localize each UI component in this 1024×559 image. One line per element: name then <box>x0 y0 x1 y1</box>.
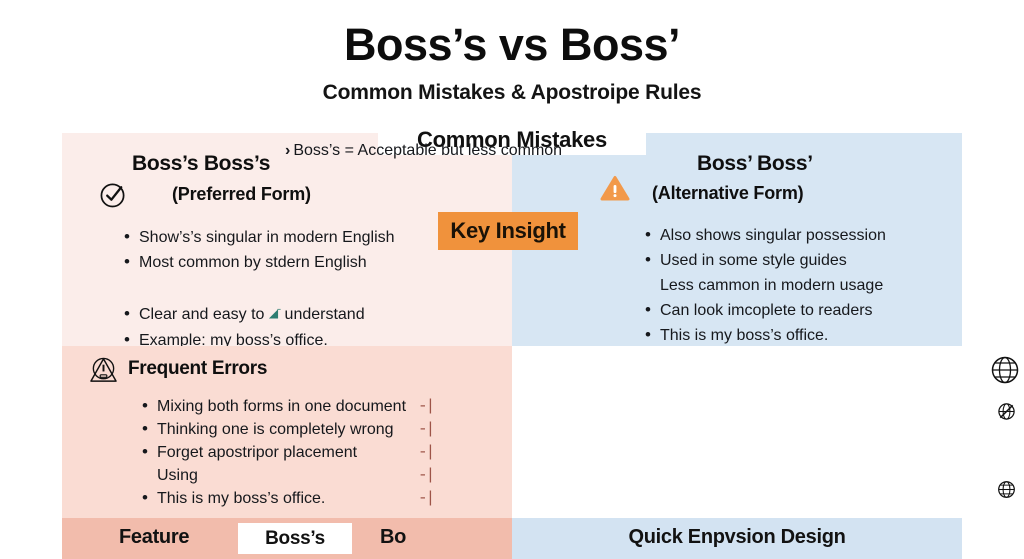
list-item: This is my boss’s office. <box>645 323 886 348</box>
list-item: Can look imcoplete to readers <box>645 298 886 323</box>
bottom-right-label: Quick Enpvsion Design <box>512 526 962 549</box>
error-mark: -| <box>418 487 433 510</box>
frequent-errors-section: Frequent Errors Mixing both forms in one… <box>62 346 512 518</box>
bottom-chip[interactable]: Boss’s <box>238 523 352 554</box>
list-item: Show’s’s singular in modern English <box>124 225 395 250</box>
artifact-glyph-icon: ◢ˉ <box>269 301 280 326</box>
page-title: Boss’s vs Boss’ <box>0 22 1024 67</box>
bottom-chip-label: Boss’s <box>265 528 325 550</box>
chevron-right-icon: › <box>285 142 290 159</box>
list-item: Most common by stdern English <box>124 250 395 275</box>
list-item: Thinking one is completely wrong <box>142 418 406 441</box>
bottom-bar-left: Feature Boss’s Bo <box>62 518 512 559</box>
frequent-errors-list: Mixing both forms in one document Thinki… <box>142 395 406 510</box>
warning-triangle-outline-icon <box>89 356 118 384</box>
globe-icon <box>991 356 1019 384</box>
comparison-board: Boss’s Boss’s (Preferred Form) Show’s’s … <box>62 133 962 559</box>
globe-icon <box>997 480 1016 499</box>
where-confusion-happens-section: Where Confusion Happens Emails and workp… <box>512 346 962 518</box>
error-mark: -| <box>418 441 433 464</box>
header: Boss’s vs Boss’ Common Mistakes & Apostr… <box>0 0 1024 105</box>
key-insight-caption-text: Boss’s = Acceptable but less common <box>293 142 562 159</box>
feature-label: Feature <box>119 526 189 549</box>
list-item: Mixing both forms in one document <box>142 395 406 418</box>
alternative-form-card: Boss’ Boss’ (Alternative Form) Also show… <box>512 133 962 346</box>
key-insight-caption: ›Boss’s = Acceptable but less common <box>285 142 562 160</box>
bullet-text-post: understand <box>280 306 365 323</box>
check-circle-icon <box>100 181 127 208</box>
error-mark: -| <box>418 418 433 441</box>
preferred-form-title: Boss’s Boss’s <box>132 152 270 176</box>
alternative-form-bullets: Also shows singular possession Used in s… <box>645 223 886 348</box>
list-item: Using <box>142 464 406 487</box>
error-mark: -| <box>418 395 433 418</box>
bottom-bar-right: Quick Enpvsion Design <box>512 518 962 559</box>
bottom-truncated-label: Bo <box>380 526 406 549</box>
list-item: Forget apostripor placement <box>142 441 406 464</box>
list-item: Clear and easy to ◢ˉ understand <box>124 302 395 328</box>
page-subtitle: Common Mistakes & Apostroipe Rules <box>0 81 1024 105</box>
list-item: Less cammon in modern usage <box>645 273 886 298</box>
warning-triangle-icon <box>600 175 630 202</box>
frequent-errors-heading: Frequent Errors <box>128 358 267 380</box>
list-item: Also shows singular possession <box>645 223 886 248</box>
preferred-form-subtitle: (Preferred Form) <box>172 184 311 205</box>
alternative-form-title: Boss’ Boss’ <box>697 152 813 176</box>
error-mark-column: -| -| -| -| -| <box>418 395 433 510</box>
key-insight-label: Key Insight <box>450 218 565 244</box>
error-mark: -| <box>418 464 433 487</box>
key-insight-badge: Key Insight <box>438 212 578 250</box>
list-item: This is my boss’s office. <box>142 487 406 510</box>
list-item: Used in some style guides <box>645 248 886 273</box>
alternative-form-subtitle: (Alternative Form) <box>652 183 803 204</box>
bullet-text-pre: Clear and easy to <box>139 306 269 323</box>
no-globe-icon <box>997 402 1016 421</box>
preferred-form-bullets: Show’s’s singular in modern English Most… <box>124 225 395 353</box>
